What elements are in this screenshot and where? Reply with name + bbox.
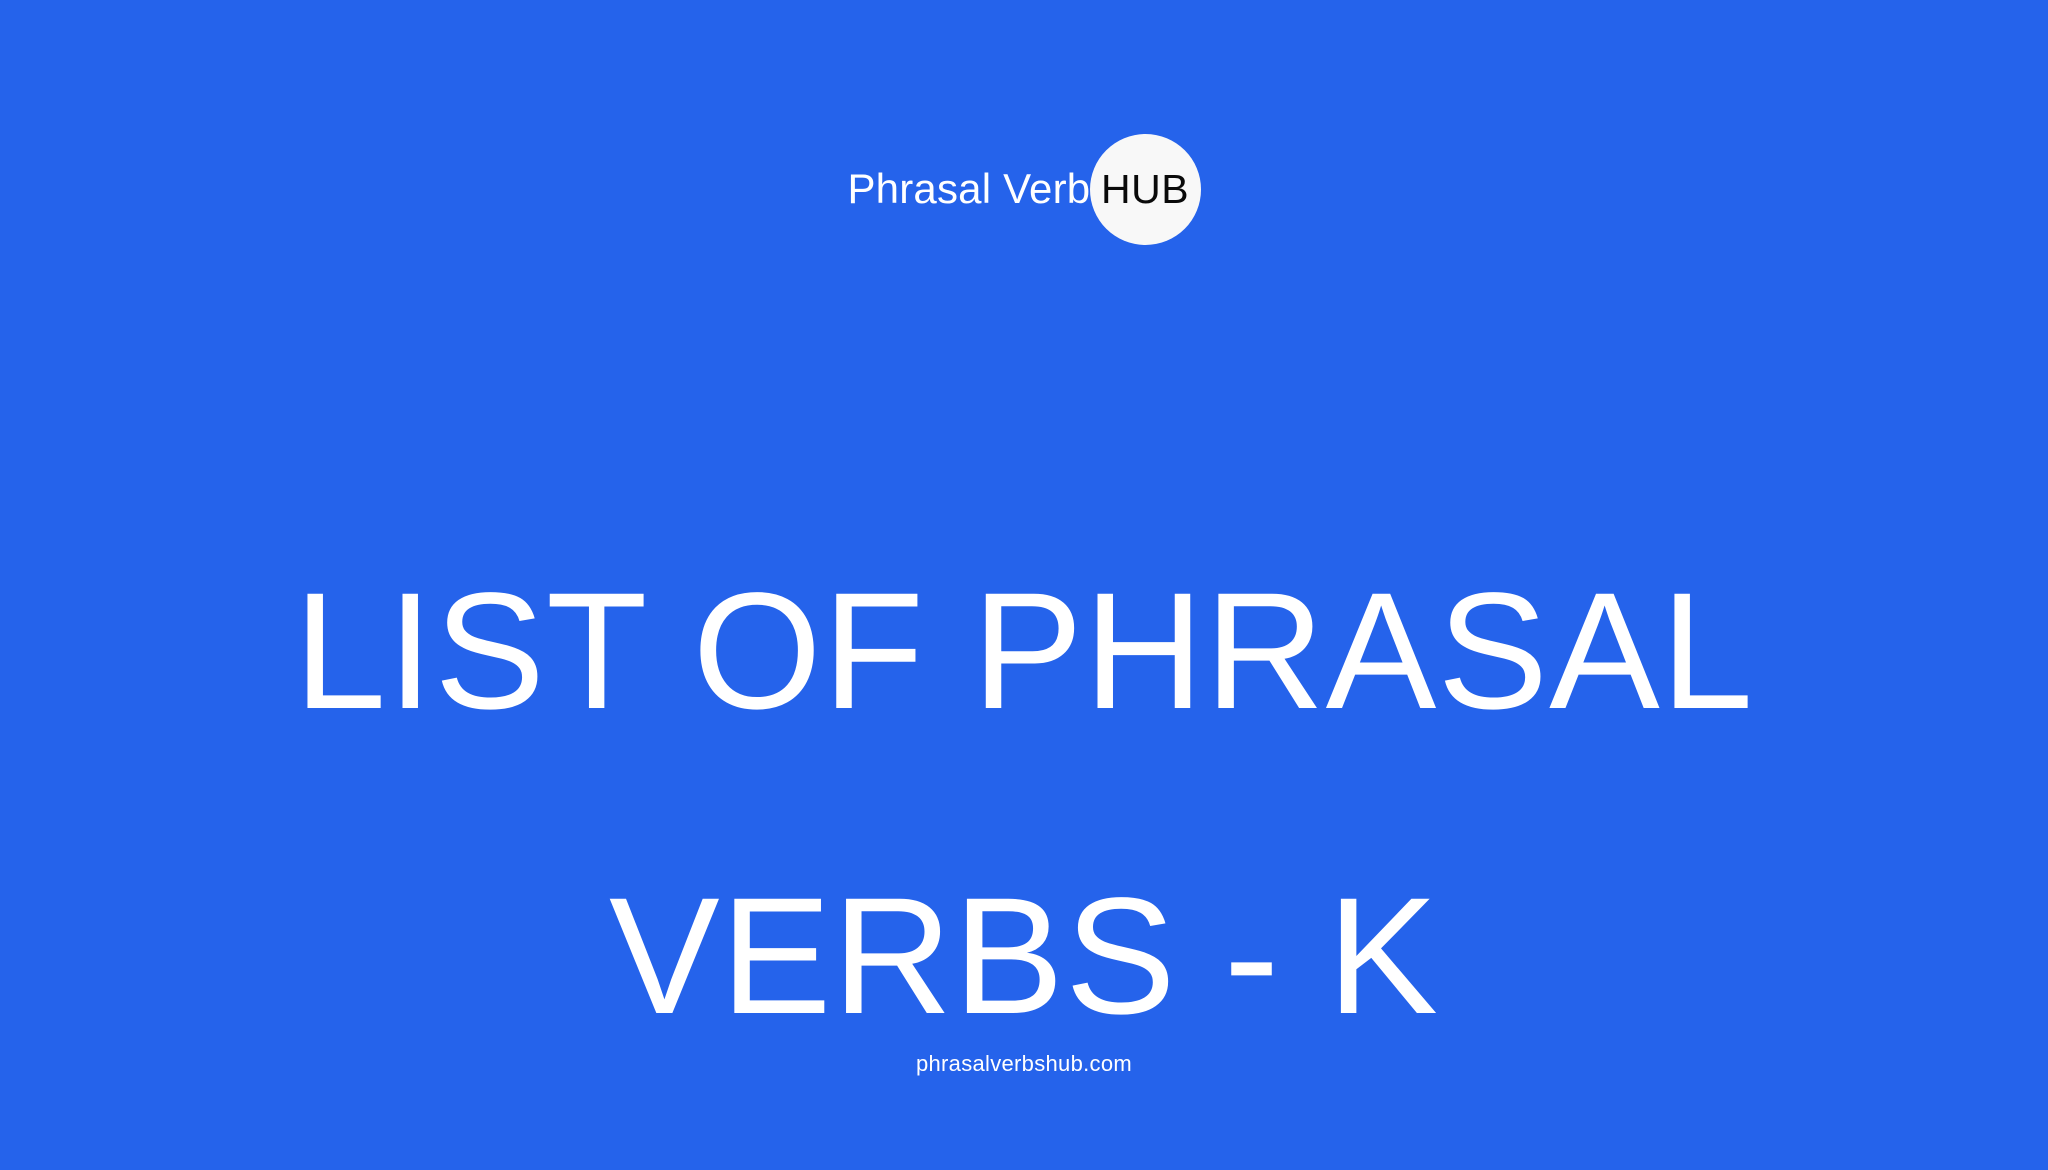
page-title-line-1: LIST OF PHRASAL <box>0 499 2048 804</box>
brand-badge-label: HUB <box>1101 169 1189 210</box>
brand-logo[interactable]: Phrasal Verbs HUB <box>0 118 2048 260</box>
page-title: LIST OF PHRASAL VERBS - K <box>0 499 2048 1109</box>
brand-badge-circle: HUB <box>1090 134 1201 245</box>
brand-wordmark: Phrasal Verbs <box>847 168 1127 210</box>
poster-canvas: Phrasal Verbs HUB LIST OF PHRASAL VERBS … <box>0 0 2048 1170</box>
brand-logo-inner: Phrasal Verbs HUB <box>847 118 1200 260</box>
footer-website-url[interactable]: phrasalverbshub.com <box>0 1050 2048 1078</box>
